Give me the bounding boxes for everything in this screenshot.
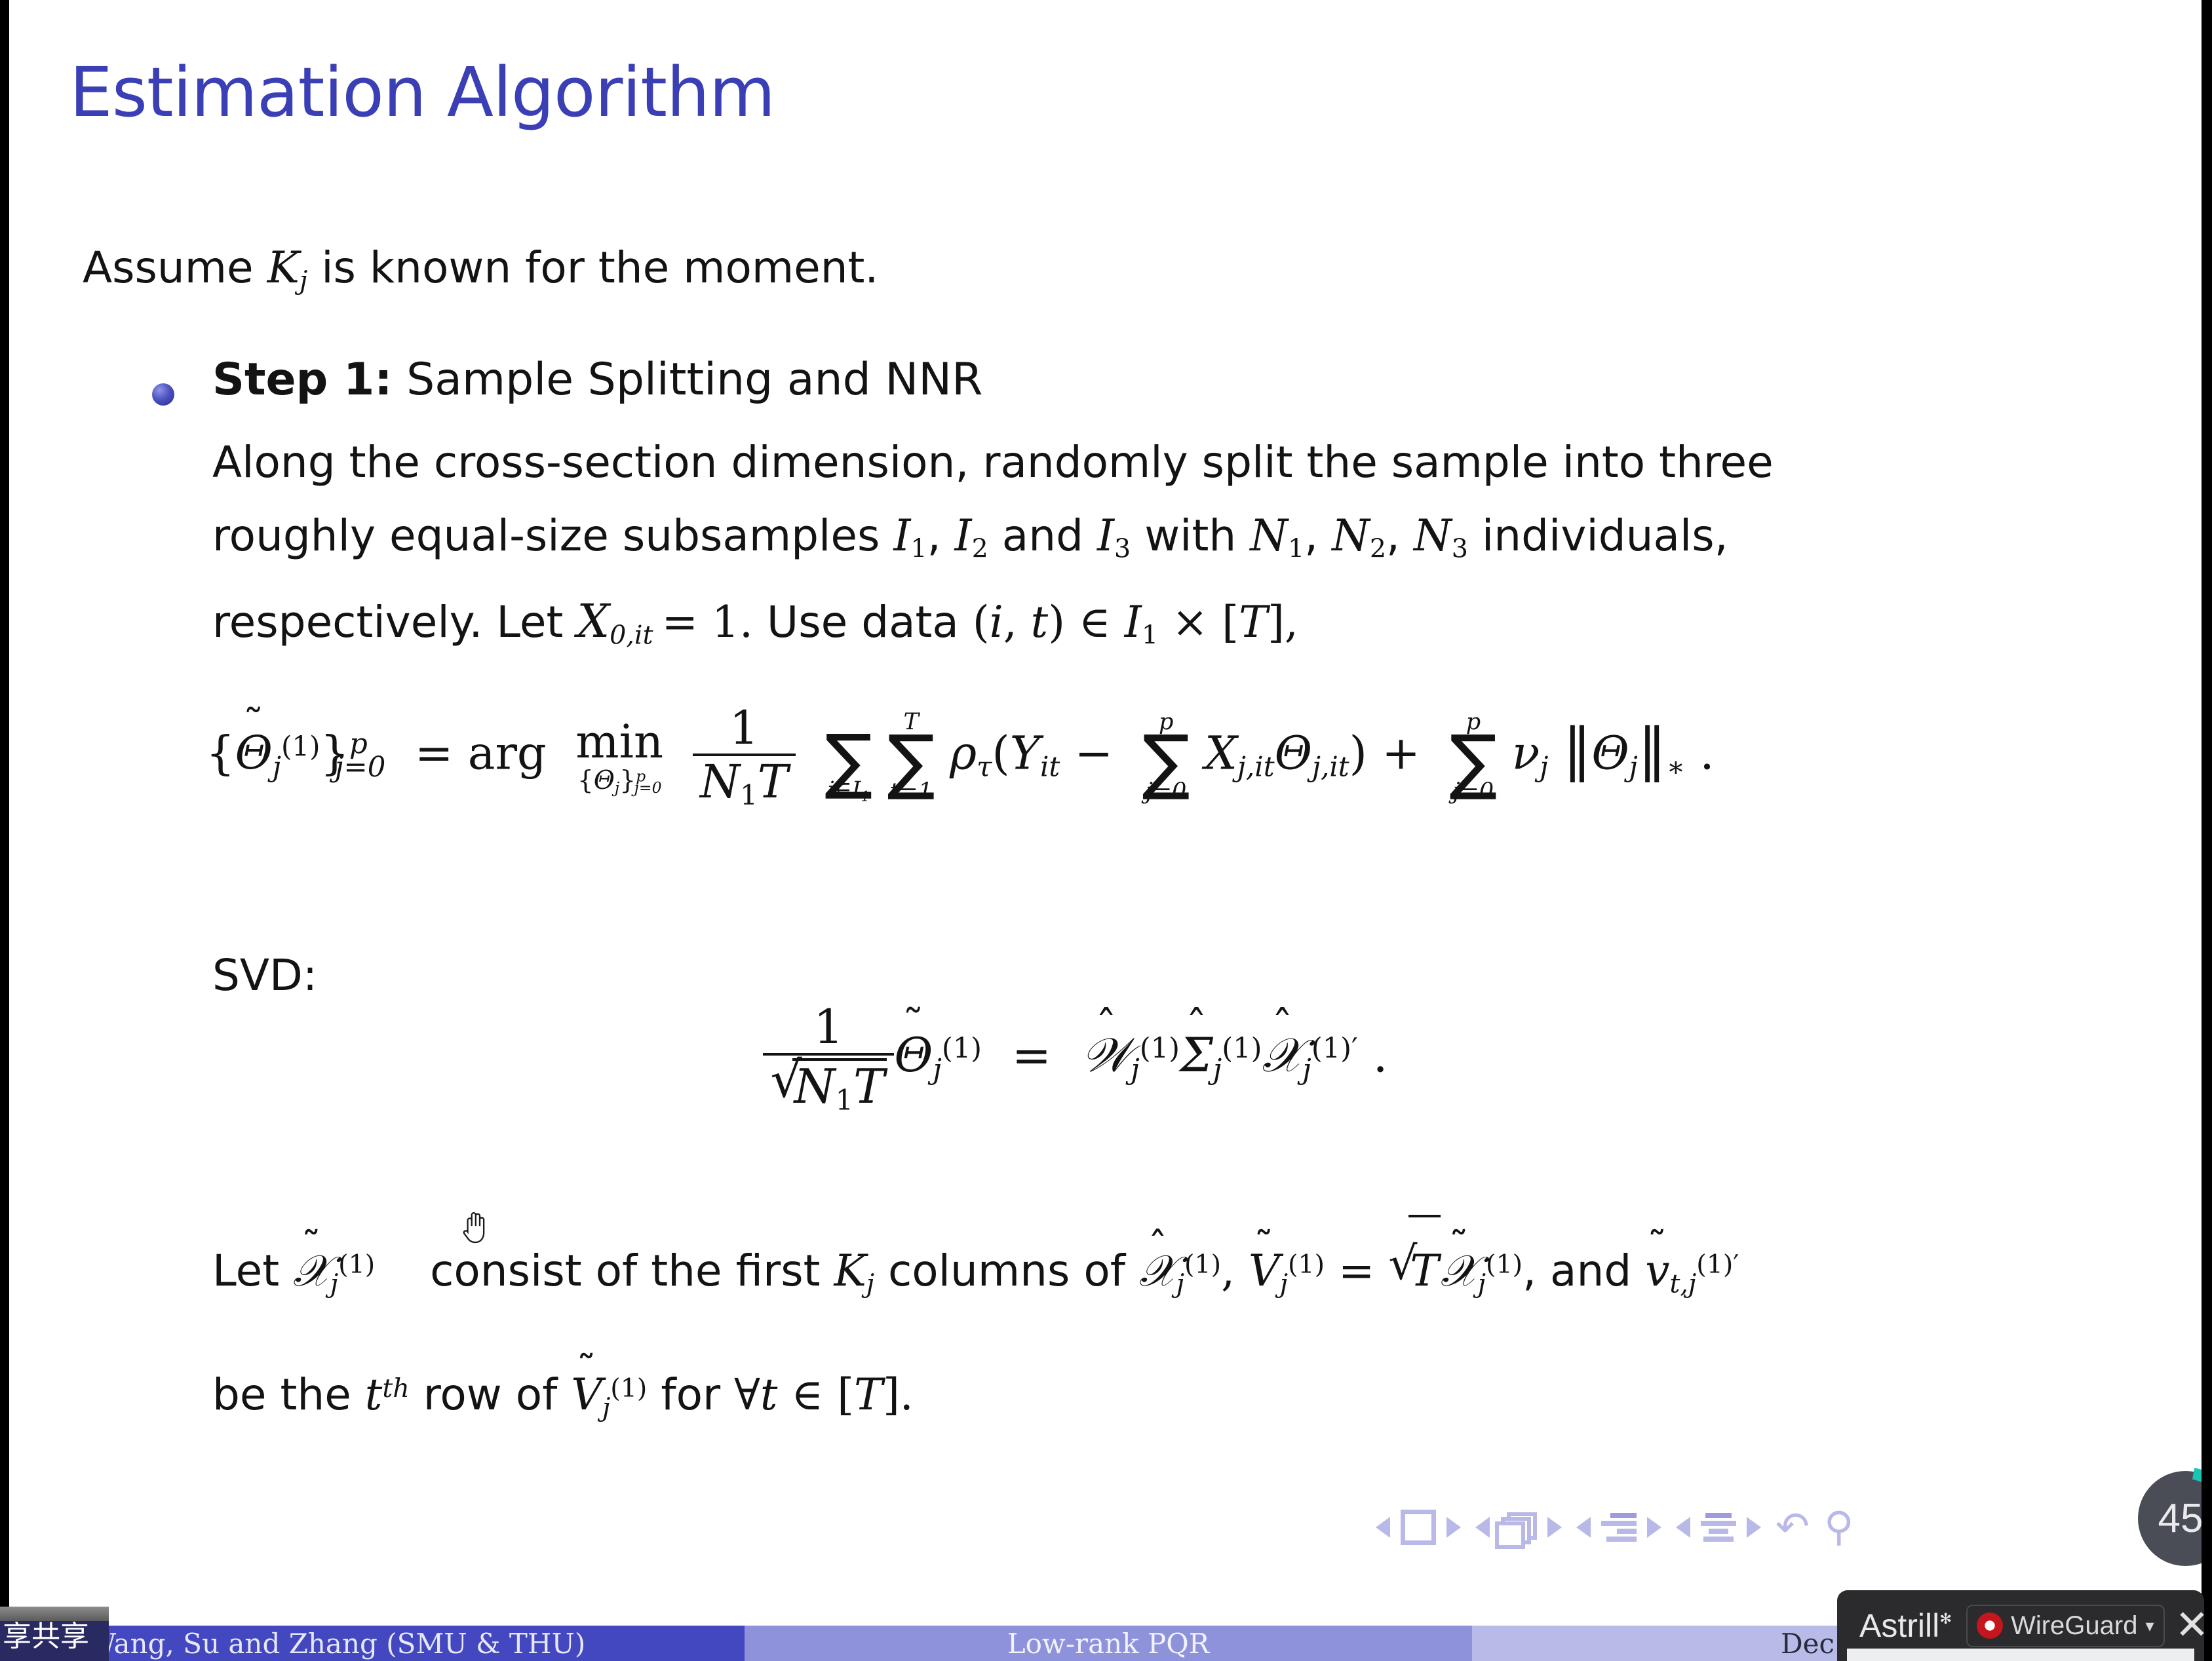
para1-line3-b: Use data [753, 597, 973, 647]
footer-authors: Wang, Su and Zhang (SMU & THU) [9, 1626, 745, 1661]
back-arrow-icon[interactable]: ↶ [1775, 1507, 1810, 1548]
frame-box-icon[interactable] [1401, 1510, 1436, 1545]
p2-let: Let [212, 1246, 293, 1296]
next-section-arrow[interactable] [1747, 1517, 1761, 1538]
subsection-lines-icon[interactable] [1601, 1513, 1637, 1542]
slide-stack-icon[interactable] [1500, 1512, 1537, 1542]
chevron-down-icon[interactable]: ▾ [2145, 1616, 2154, 1636]
sep5: , [1386, 510, 1414, 561]
step1-label: Step 1: [212, 354, 392, 406]
frame-nav-group[interactable] [1376, 1510, 1461, 1545]
objective-equation: {Θj(1)}pj=0 = arg min{Θj}pj=0 1N1T ∑i∈I1… [206, 704, 1715, 810]
sep4: , [1304, 510, 1332, 561]
astrill-brand-mark-icon: ✻ [1939, 1611, 1952, 1627]
p2-columns: columns of [874, 1246, 1139, 1296]
p2-for: for [647, 1369, 734, 1420]
section-lines-icon[interactable] [1701, 1513, 1736, 1542]
p2-be: be the [212, 1369, 365, 1420]
p2-consist: consist of the first [416, 1246, 834, 1296]
bullet-dot-icon [152, 383, 174, 406]
wireguard-logo-icon [1977, 1613, 2003, 1639]
next-subsection-arrow[interactable] [1647, 1517, 1661, 1538]
protocol-label: WireGuard [2011, 1611, 2137, 1641]
prev-subsection-arrow[interactable] [1576, 1517, 1591, 1538]
next-frame-arrow[interactable] [1446, 1517, 1461, 1538]
speed-value: 45x [2158, 1495, 2202, 1542]
protocol-selector[interactable]: WireGuard ▾ [1966, 1605, 2164, 1647]
prev-frame-arrow[interactable] [1376, 1517, 1390, 1538]
close-icon[interactable]: ✕ [2175, 1609, 2209, 1642]
next-slide-arrow[interactable] [1547, 1517, 1562, 1538]
step1-paragraph: Along the cross-section dimension, rando… [212, 426, 2100, 672]
assume-prefix: Assume [83, 242, 267, 293]
sep1: , [927, 510, 955, 561]
share-overlay-label: 享共享 [3, 1613, 89, 1654]
subsection-nav-group[interactable] [1576, 1513, 1661, 1542]
step1-heading: Step 1: Sample Splitting and NNR [212, 354, 982, 406]
slide-canvas: Estimation Algorithm Assume Kj is known … [9, 0, 2202, 1632]
sep2: and [988, 510, 1097, 561]
page-title: Estimation Algorithm [69, 52, 775, 132]
symbol-K-subscript: j [300, 265, 307, 296]
beamer-navigation-bar[interactable]: ↶ ⚲ [1376, 1507, 1853, 1548]
para1-line3-a: respectively. Let [212, 597, 577, 647]
prev-slide-arrow[interactable] [1475, 1517, 1490, 1538]
playback-speed-badge[interactable]: 45x [2138, 1471, 2202, 1566]
sep6: individuals, [1468, 510, 1728, 561]
speed-number: 45 [2158, 1496, 2202, 1541]
assume-line: Assume Kj is known for the moment. [83, 242, 878, 296]
prev-section-arrow[interactable] [1676, 1517, 1690, 1538]
closing-paragraph: Let 𝒳j(1) consist of the first Kj column… [212, 1212, 2185, 1461]
section-nav-group[interactable] [1676, 1513, 1761, 1542]
svd-equation: 1N1TΘj(1) = 𝒲j(1)Σj(1)𝒳j(1)′ . [763, 1002, 1388, 1116]
search-icon[interactable]: ⚲ [1824, 1507, 1853, 1548]
step1-text: Sample Splitting and NNR [392, 354, 982, 406]
hand-cursor-icon [461, 1209, 492, 1246]
p2-and: , and [1523, 1246, 1645, 1296]
p2-rowof: row of [410, 1369, 572, 1420]
para1-line2-a: roughly equal-size subsamples [212, 510, 893, 561]
para1-line1: Along the cross-section dimension, rando… [212, 437, 1774, 487]
astrill-widget-body [1847, 1649, 2194, 1661]
assume-suffix: is known for the moment. [307, 242, 878, 293]
sep3: with [1131, 510, 1250, 561]
footer-talk-title: Low-rank PQR [745, 1626, 1472, 1661]
astrill-brand-text: Astrill [1859, 1607, 1939, 1644]
symbol-K: K [267, 242, 300, 293]
astrill-brand-label: Astrill✻ [1859, 1607, 1952, 1645]
slide-nav-group[interactable] [1475, 1512, 1562, 1542]
svd-label: SVD: [212, 950, 317, 1001]
screen-share-overlay[interactable]: 享共享 [0, 1607, 109, 1661]
